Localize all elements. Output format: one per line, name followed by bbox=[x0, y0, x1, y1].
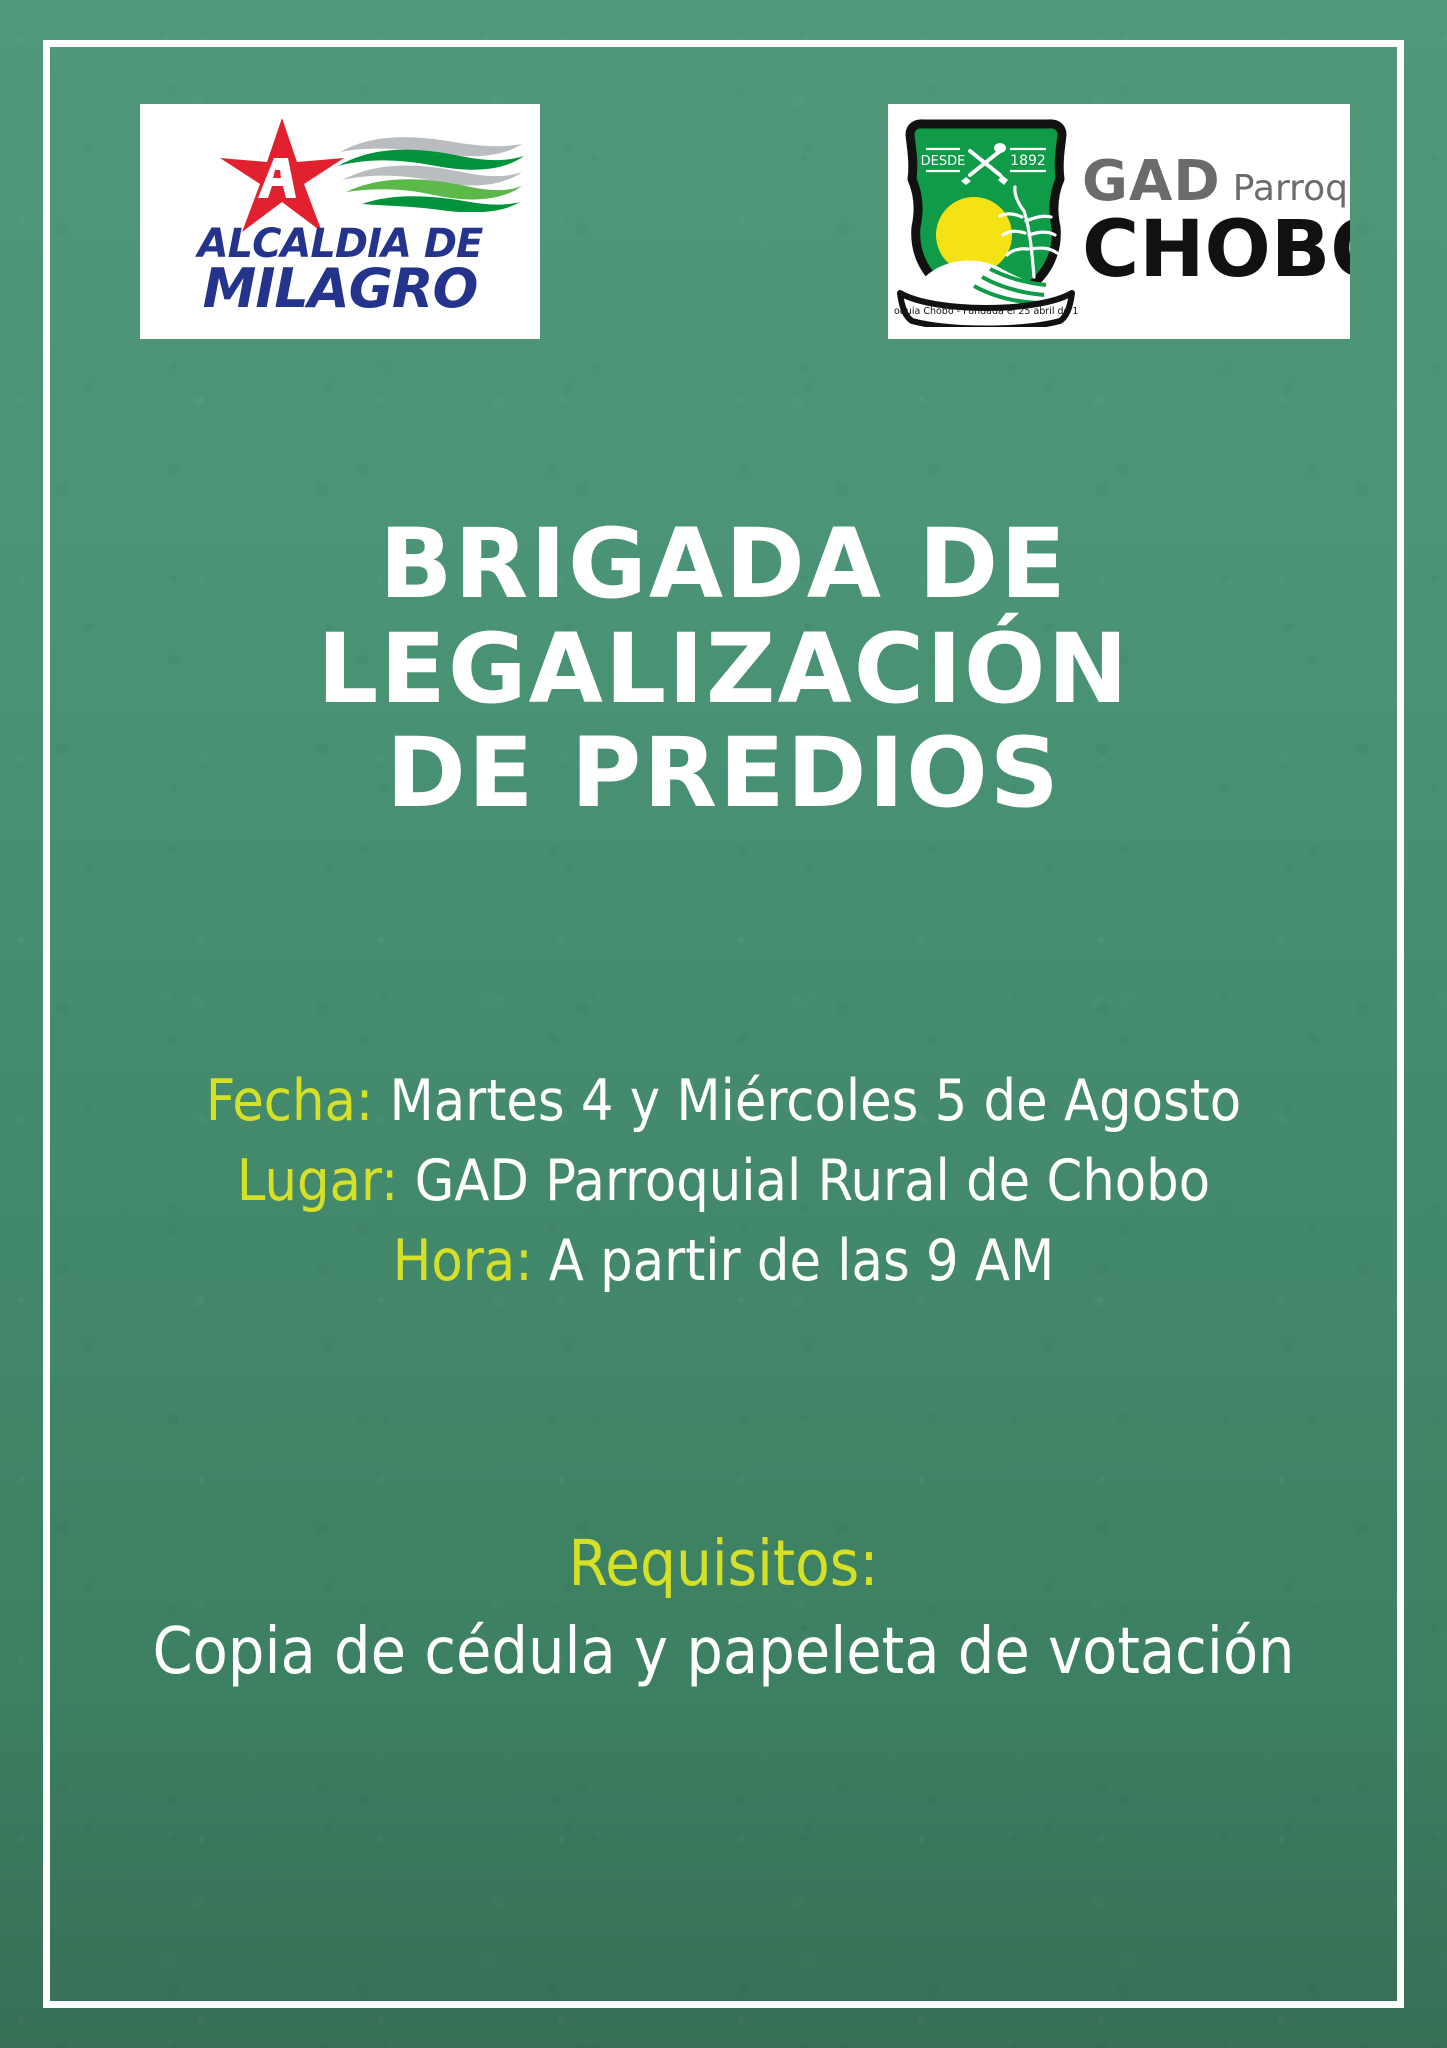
crest-ribbon-text: Parroquia Chobo - Fundada el 25 abril de… bbox=[894, 306, 1078, 317]
crest-desde-text: DESDE bbox=[921, 154, 966, 169]
milagro-logo-mark bbox=[140, 104, 540, 232]
detail-fecha: Fecha: Martes 4 y Miércoles 5 de Agosto bbox=[150, 1062, 1297, 1142]
requirements-section: Requisitos: Copia de cédula y papeleta d… bbox=[120, 1525, 1327, 1694]
chobo-gad-text: GAD bbox=[1082, 154, 1221, 210]
detail-hora-value: A partir de las 9 AM bbox=[533, 1228, 1055, 1294]
detail-lugar-label: Lugar: bbox=[237, 1148, 398, 1214]
chobo-wordmark-line1: GAD Parroquial bbox=[1082, 154, 1350, 210]
chobo-name-text: CHOBO bbox=[1082, 212, 1350, 288]
detail-hora: Hora: A partir de las 9 AM bbox=[150, 1222, 1297, 1302]
milagro-wordmark: ALCALDIA DE MILAGRO bbox=[140, 226, 540, 314]
chobo-crest-icon: DESDE 1892 Parroquia Chobo - Fundada el … bbox=[894, 117, 1078, 327]
detail-lugar-value: GAD Parroquial Rural de Chobo bbox=[398, 1148, 1210, 1214]
poster-title-line-1: BRIGADA DE bbox=[100, 512, 1347, 617]
chobo-wordmark: GAD Parroquial CHOBO bbox=[1078, 154, 1350, 288]
logo-row: ALCALDIA DE MILAGRO bbox=[0, 104, 1447, 284]
poster-title-line-2: LEGALIZACIÓN bbox=[100, 617, 1347, 722]
milagro-wordmark-line2: MILAGRO bbox=[203, 257, 478, 320]
detail-fecha-value: Martes 4 y Miércoles 5 de Agosto bbox=[373, 1068, 1241, 1134]
detail-lugar: Lugar: GAD Parroquial Rural de Chobo bbox=[150, 1142, 1297, 1222]
poster-title: BRIGADA DE LEGALIZACIÓN DE PREDIOS bbox=[100, 512, 1347, 826]
requirements-heading: Requisitos: bbox=[120, 1525, 1327, 1604]
requirements-body: Copia de cédula y papeleta de votación bbox=[120, 1612, 1327, 1694]
poster-canvas: ALCALDIA DE MILAGRO bbox=[0, 0, 1447, 2048]
detail-hora-label: Hora: bbox=[393, 1228, 533, 1294]
poster-title-line-3: DE PREDIOS bbox=[100, 721, 1347, 826]
detail-fecha-label: Fecha: bbox=[206, 1068, 373, 1134]
event-details: Fecha: Martes 4 y Miércoles 5 de Agosto … bbox=[150, 1062, 1297, 1301]
crest-year-text: 1892 bbox=[1010, 153, 1046, 169]
green-wave-swoosh-icon bbox=[336, 126, 526, 212]
gad-parroquial-chobo-logo: DESDE 1892 Parroquia Chobo - Fundada el … bbox=[888, 104, 1350, 339]
chobo-parroquial-text: Parroquial bbox=[1233, 171, 1350, 207]
alcaldia-de-milagro-logo: ALCALDIA DE MILAGRO bbox=[140, 104, 540, 339]
